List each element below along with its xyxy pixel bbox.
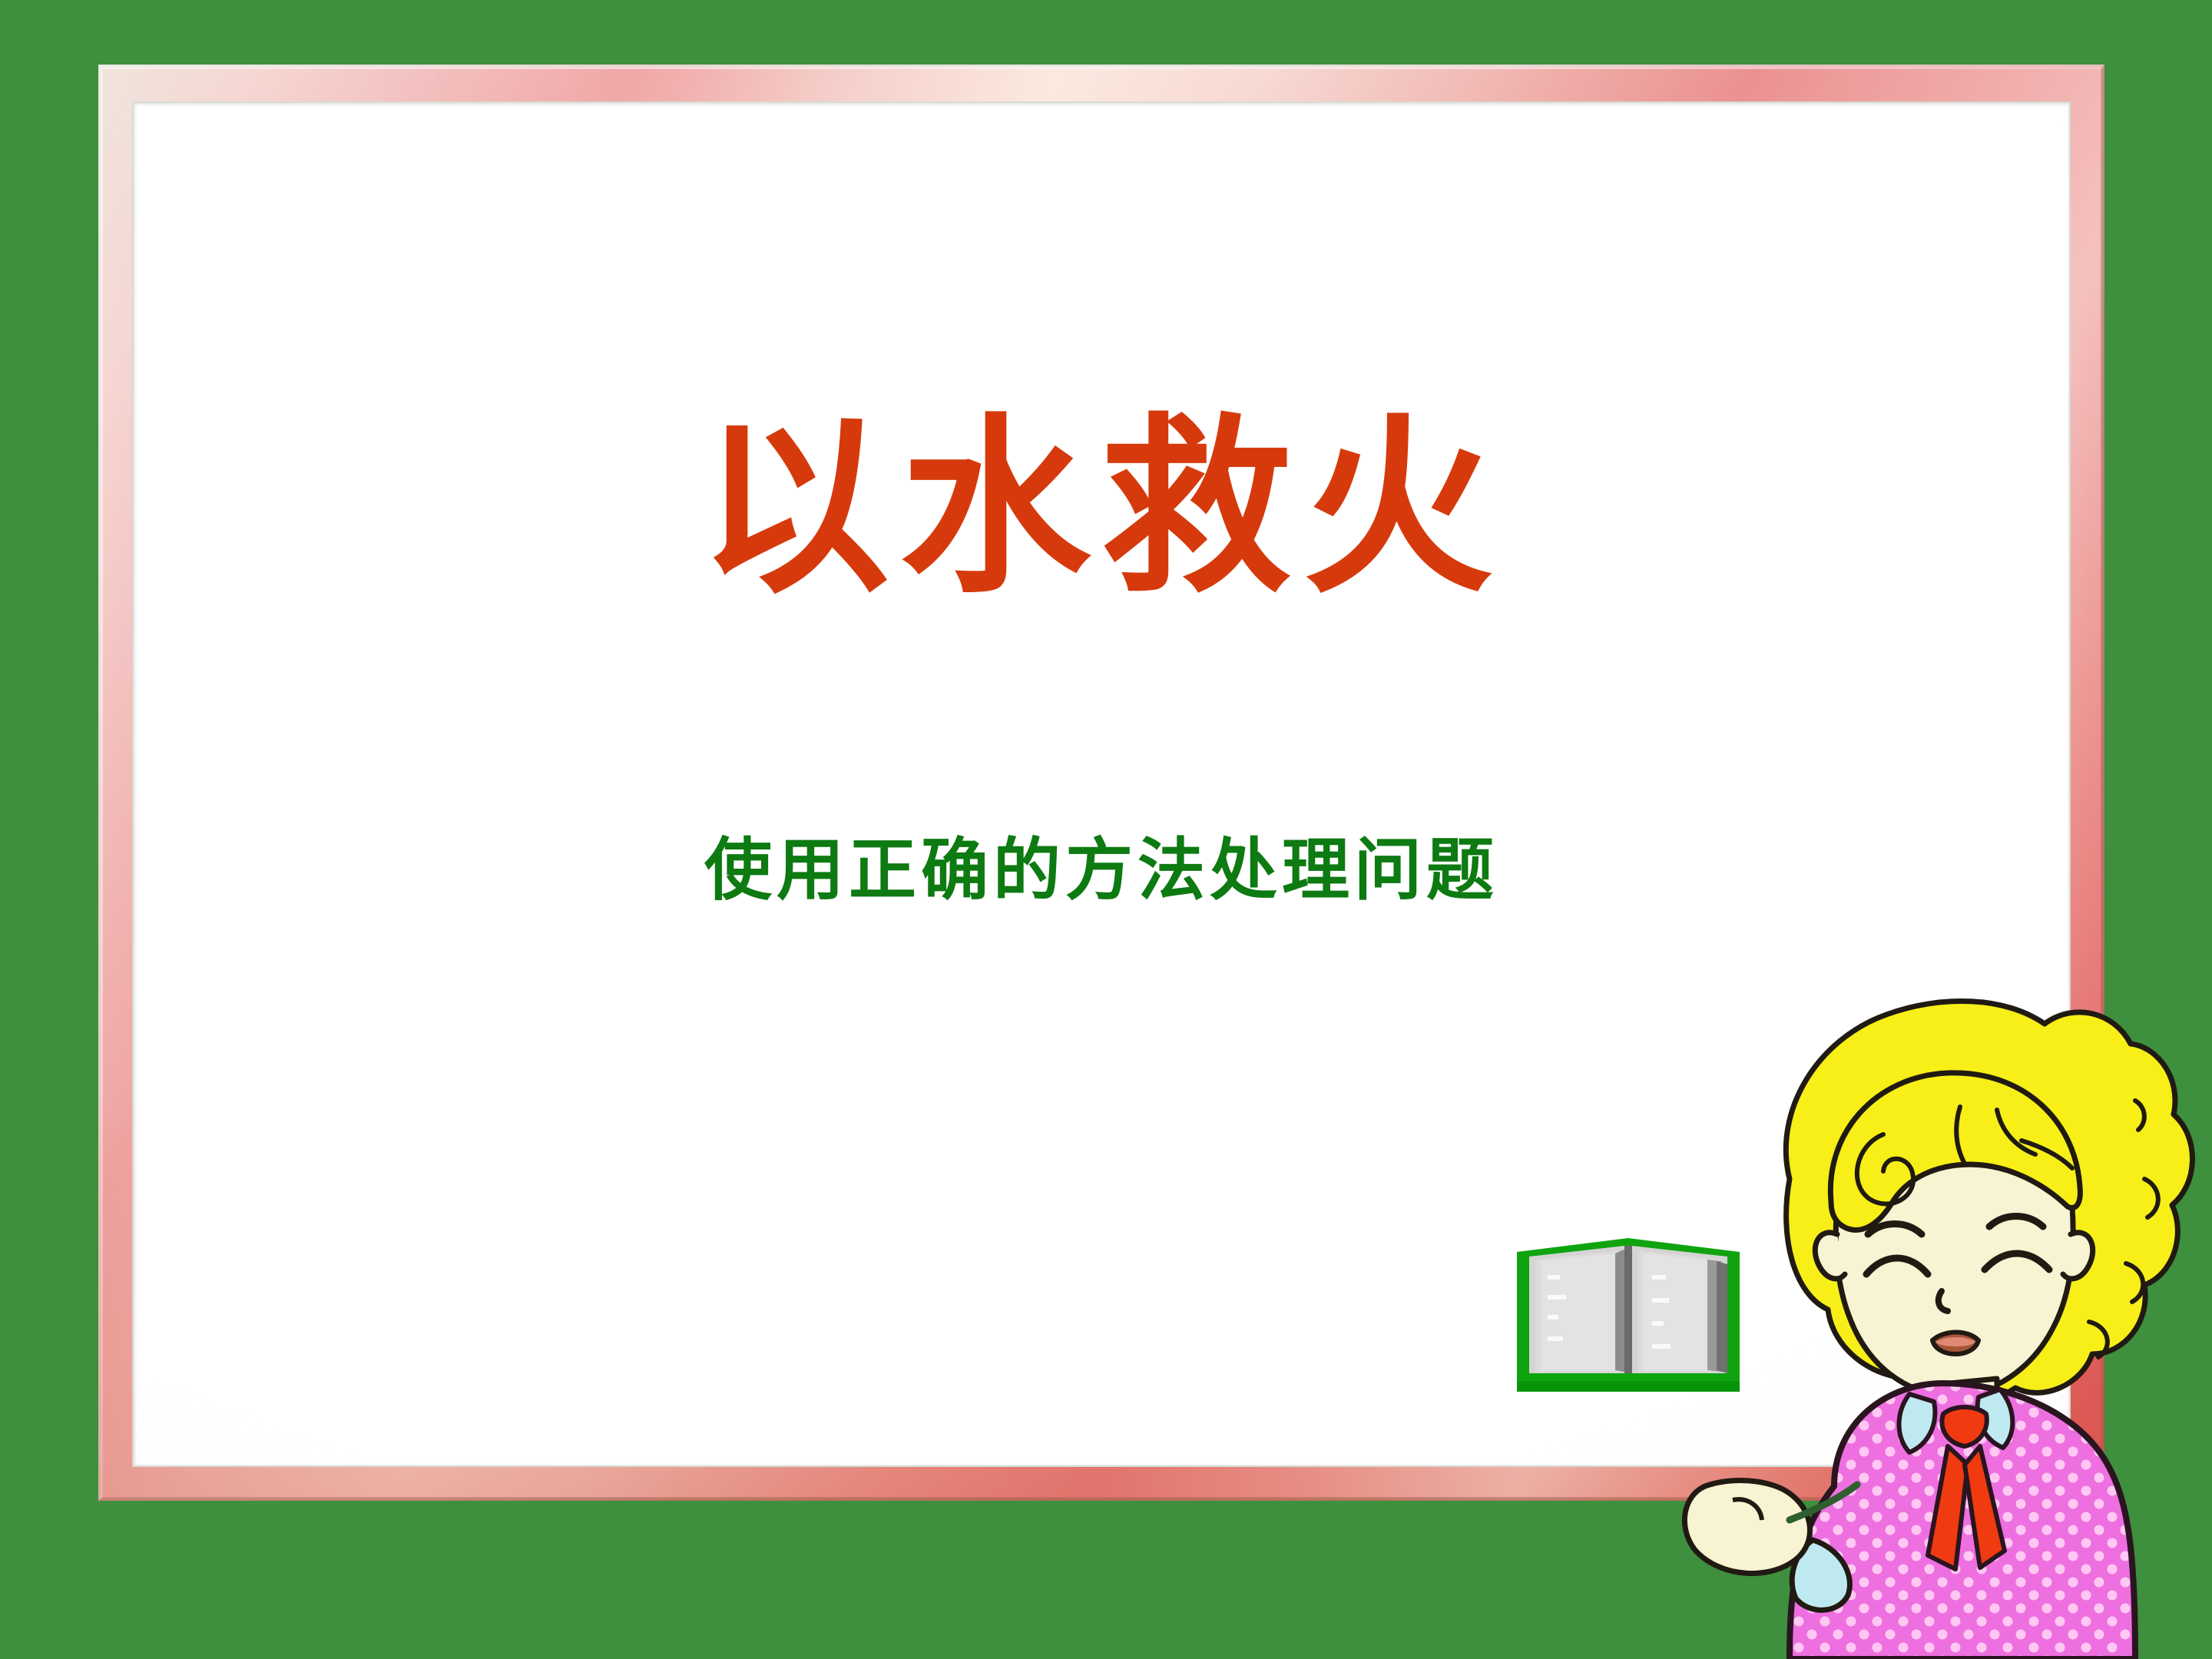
cartoon-girl-illustration — [1674, 949, 2212, 1659]
slide-canvas: 以水救火 使用正确的方法处理问题 — [0, 0, 2212, 1659]
slide-subtitle: 使用正确的方法处理问题 — [132, 816, 2071, 913]
slide-title: 以水救火 — [132, 409, 2071, 608]
